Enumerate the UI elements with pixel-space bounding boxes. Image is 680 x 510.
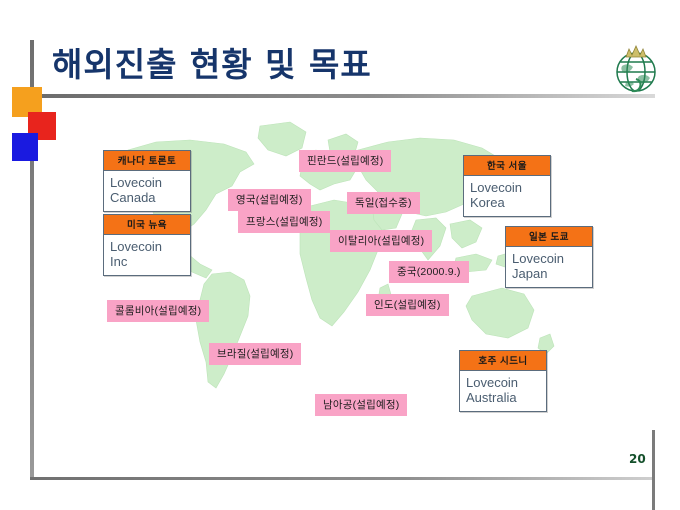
planned-label-china[interactable]: 중국(2000.9.) (389, 261, 469, 283)
planned-label-india[interactable]: 인도(설립예정) (366, 294, 449, 316)
office-box-usa[interactable]: 미국 뉴욕Lovecoin Inc (103, 214, 191, 276)
office-box-korea[interactable]: 한국 서울Lovecoin Korea (463, 155, 551, 217)
planned-label-finland[interactable]: 핀란드(설립예정) (299, 150, 391, 172)
planned-label-colombia[interactable]: 콜롬비아(설립예정) (107, 300, 209, 322)
planned-label-brazil[interactable]: 브라질(설립예정) (209, 343, 301, 365)
office-body-japan: Lovecoin Japan (506, 247, 592, 287)
planned-label-germany[interactable]: 독일(접수중) (347, 192, 420, 214)
right-vertical-rule (652, 430, 655, 510)
planned-label-france[interactable]: 프랑스(설립예정) (238, 211, 330, 233)
office-body-korea: Lovecoin Korea (464, 176, 550, 216)
office-box-canada[interactable]: 캐나다 토론토Lovecoin Canada (103, 150, 191, 212)
office-body-canada: Lovecoin Canada (104, 171, 190, 211)
office-body-usa: Lovecoin Inc (104, 235, 190, 275)
planned-label-uk[interactable]: 영국(설립예정) (228, 189, 311, 211)
globe-logo-icon (608, 38, 664, 96)
office-box-australia[interactable]: 호주 시드니Lovecoin Australia (459, 350, 547, 412)
title-underline-rule (30, 94, 655, 98)
slide-canvas: 해외진출 현황 및 목표 (0, 0, 680, 510)
office-header-canada: 캐나다 토론토 (104, 151, 190, 171)
page-title: 해외진출 현황 및 목표 (52, 38, 372, 86)
bottom-rule (30, 477, 655, 480)
planned-label-safrica[interactable]: 남아공(설립예정) (315, 394, 407, 416)
office-header-korea: 한국 서울 (464, 156, 550, 176)
office-header-usa: 미국 뉴욕 (104, 215, 190, 235)
office-box-japan[interactable]: 일본 도쿄Lovecoin Japan (505, 226, 593, 288)
office-header-australia: 호주 시드니 (460, 351, 546, 371)
planned-label-italy[interactable]: 이탈리아(설립예정) (330, 230, 432, 252)
page-number: 20 (629, 452, 646, 466)
office-header-japan: 일본 도쿄 (506, 227, 592, 247)
blue-square-decor (12, 133, 38, 161)
office-body-australia: Lovecoin Australia (460, 371, 546, 411)
